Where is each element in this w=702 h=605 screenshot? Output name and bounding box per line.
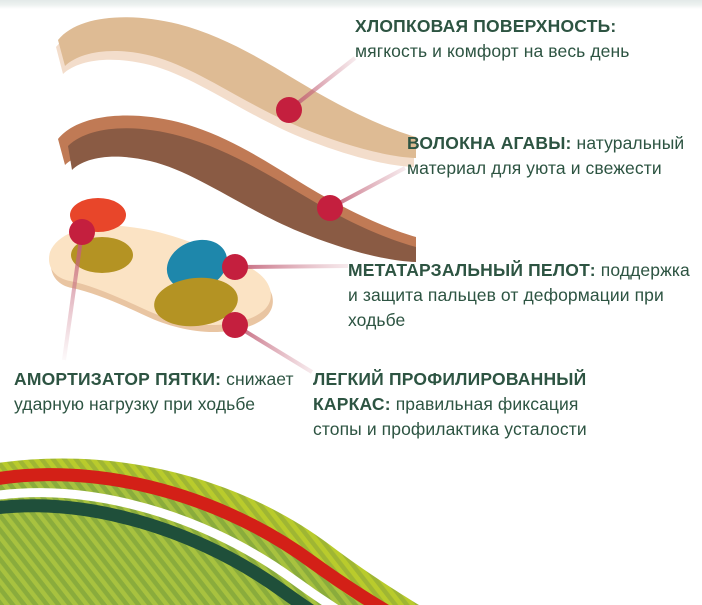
- heel-support-pad: [71, 237, 133, 273]
- leader-line-frame: [235, 325, 312, 372]
- agave-fiber-layer: [58, 115, 416, 262]
- base-insole-layer: [49, 198, 273, 332]
- callout-metatarsal: МЕТАТАРЗАЛЬНЫЙ ПЕЛОТ: поддержка и защита…: [348, 258, 693, 333]
- marker-dot-heel: [69, 219, 95, 245]
- marker-dots: [69, 97, 343, 338]
- leader-line-metatarsal: [235, 266, 348, 267]
- callout-cotton: ХЛОПКОВАЯ ПОВЕРХНОСТЬ: мягкость и комфор…: [355, 14, 685, 64]
- callout-frame: ЛЕГКИЙ ПРОФИЛИРОВАННЫЙ КАРКАС: правильна…: [313, 367, 613, 442]
- marker-dot-frame: [222, 312, 248, 338]
- arch-support-pad: [152, 274, 241, 331]
- callout-heel-heading: АМОРТИЗАТОР ПЯТКИ:: [14, 369, 221, 389]
- callout-metatarsal-heading: МЕТАТАРЗАЛЬНЫЙ ПЕЛОТ:: [348, 260, 596, 280]
- callout-cotton-body: мягкость и комфорт на весь день: [355, 41, 629, 61]
- callout-heel: АМОРТИЗАТОР ПЯТКИ: снижает ударную нагру…: [14, 367, 299, 417]
- infographic-canvas: ХЛОПКОВАЯ ПОВЕРХНОСТЬ: мягкость и комфор…: [0, 0, 702, 605]
- callout-cotton-heading: ХЛОПКОВАЯ ПОВЕРХНОСТЬ:: [355, 16, 616, 36]
- marker-dot-cotton: [276, 97, 302, 123]
- top-gradient-bar: [0, 0, 702, 9]
- callout-agave: ВОЛОКНА АГАВЫ: натуральный материал для …: [407, 131, 692, 181]
- heel-cushion-pad: [70, 198, 126, 232]
- leader-line-cotton: [289, 58, 355, 110]
- leader-line-heel: [64, 232, 82, 360]
- marker-dot-agave: [317, 195, 343, 221]
- callout-agave-heading: ВОЛОКНА АГАВЫ:: [407, 133, 572, 153]
- marker-dot-metatarsal: [222, 254, 248, 280]
- metatarsal-pad: [159, 231, 234, 299]
- leader-line-agave: [330, 168, 405, 208]
- green-field-swoosh: [0, 459, 470, 605]
